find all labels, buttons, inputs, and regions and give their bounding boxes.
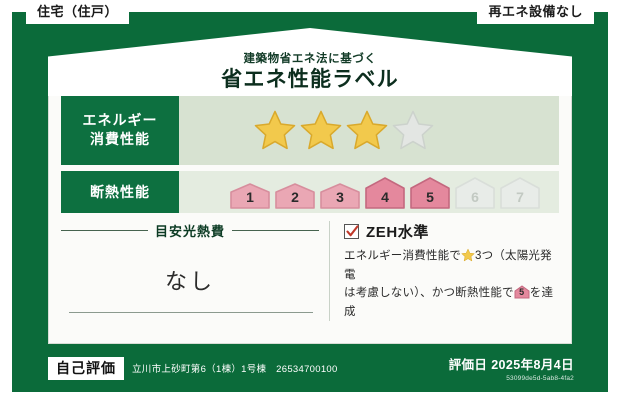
heading-rule-left	[61, 230, 148, 231]
evaluation-date-value: 2025年8月4日	[491, 358, 574, 372]
insulation-level-2: 2	[274, 182, 316, 210]
house-icon	[229, 182, 271, 210]
evaluation-date-label: 評価日	[449, 358, 488, 372]
house-icon	[409, 176, 451, 210]
energy-performance-label: エネルギー 消費性能	[61, 95, 179, 165]
house-icon	[499, 176, 541, 210]
star-icon-inline	[461, 248, 475, 262]
zeh-desc-part1: エネルギー消費性能で	[344, 250, 461, 262]
insulation-level-1: 1	[229, 182, 271, 210]
energy-label-line1: エネルギー	[83, 112, 158, 128]
insulation-performance-value: 1234567	[179, 171, 559, 213]
zeh-title: ZEH水準	[366, 221, 429, 242]
label-roof-header: 建築物省エネ法に基づく 省エネ性能ラベル	[48, 28, 572, 96]
energy-performance-row: エネルギー 消費性能	[61, 95, 559, 165]
zeh-description: エネルギー消費性能で3つ（太陽光発電は考慮しない）、かつ断熱性能で5を達成	[344, 247, 559, 322]
insulation-level-7: 7	[499, 176, 541, 210]
self-evaluation-badge: 自己評価	[48, 357, 124, 380]
header-subtitle: 建築物省エネ法に基づく	[48, 53, 572, 66]
house-icon	[364, 176, 406, 210]
utility-cost-value: なし	[61, 264, 319, 296]
insulation-performance-label: 断熱性能	[61, 171, 179, 213]
document-hash: 53099de5d-5ab8-4fa2	[449, 375, 574, 382]
zeh-checkbox[interactable]	[344, 224, 359, 239]
house-icon	[274, 182, 316, 210]
energy-label-line2: 消費性能	[90, 131, 150, 147]
house-icon	[319, 182, 361, 210]
insulation-level-3: 3	[319, 182, 361, 210]
badge-renewable-energy: 再エネ設備なし	[477, 0, 594, 24]
utility-cost-bottom-rule	[69, 312, 313, 313]
evaluation-date: 評価日 2025年8月4日	[449, 354, 574, 373]
star-icon-empty	[391, 108, 435, 152]
zeh-section: ZEH水準 エネルギー消費性能で3つ（太陽光発電は考慮しない）、かつ断熱性能で5…	[330, 219, 559, 335]
label-card: 建築物省エネ法に基づく 省エネ性能ラベル エネルギー 消費性能	[12, 12, 608, 392]
star-icon-filled	[253, 108, 297, 152]
insulation-level-scale: 1234567	[229, 171, 541, 213]
page-title: 省エネ性能ラベル	[48, 68, 572, 92]
badge-building-type: 住宅（住戸）	[26, 0, 129, 24]
insulation-performance-row: 断熱性能 1234567	[61, 171, 559, 213]
inline-house-number: 5	[514, 285, 530, 300]
label-footer: 自己評価 立川市上砂町第6（1棟）1号棟 26534700100 評価日 202…	[12, 344, 608, 392]
house-icon-inline: 5	[514, 285, 530, 299]
utility-cost-heading: 目安光熱費	[61, 221, 319, 240]
zeh-header: ZEH水準	[344, 221, 559, 242]
energy-performance-value	[179, 95, 559, 165]
label-body-panel: エネルギー 消費性能 断熱性能 1234567	[48, 84, 572, 344]
zeh-desc-part2: は考慮しない）、かつ断熱性能で	[344, 287, 514, 299]
footer-right-group: 評価日 2025年8月4日 53099de5d-5ab8-4fa2	[449, 354, 574, 382]
star-icon-filled	[299, 108, 343, 152]
heading-rule-right	[232, 230, 319, 231]
lower-section: 目安光熱費 なし ZEH水準	[61, 219, 559, 335]
house-icon	[454, 176, 496, 210]
check-icon	[346, 225, 359, 238]
insulation-level-4: 4	[364, 176, 406, 210]
property-address: 立川市上砂町第6（1棟）1号棟 26534700100	[132, 361, 338, 375]
energy-star-rating	[253, 108, 435, 152]
utility-cost-title: 目安光熱費	[155, 221, 225, 240]
utility-cost-section: 目安光熱費 なし	[61, 219, 329, 335]
insulation-level-5: 5	[409, 176, 451, 210]
insulation-level-6: 6	[454, 176, 496, 210]
energy-performance-label: 建築物省エネ法に基づく 省エネ性能ラベル エネルギー 消費性能	[0, 0, 620, 404]
footer-left-group: 自己評価 立川市上砂町第6（1棟）1号棟 26534700100	[48, 357, 338, 380]
star-icon-filled	[345, 108, 389, 152]
insulation-label-text: 断熱性能	[90, 183, 150, 202]
